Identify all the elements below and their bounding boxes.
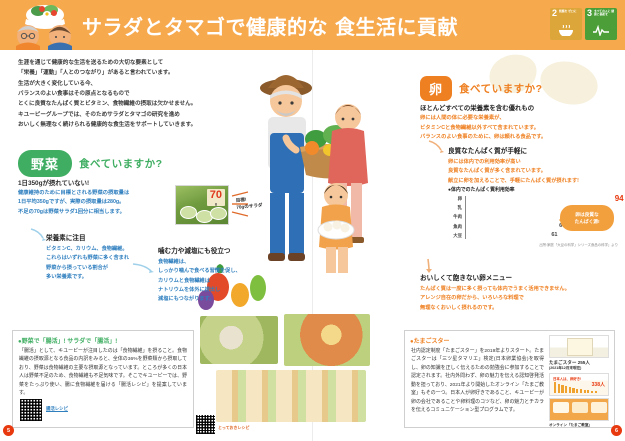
egg-subtext-line: バランスのよい食事のために、卵は頼れる食品です。 <box>420 133 625 143</box>
salad-couple-mascot-icon <box>8 2 82 50</box>
egg-menu-callout: おいしくて飽きない卵メニュー たんぱく質は一度に多く摂っても体内でうまく活用でき… <box>420 272 620 313</box>
vegetable-subtext-line: 健康維持のために目標とされる野菜の摂取量は <box>18 189 178 198</box>
chewing-callout-line: カリウムと食物繊維は <box>158 277 282 286</box>
chewing-callout-line: ナトリウムを体外に排出し <box>158 286 282 295</box>
tamago-star-certificate-photo <box>549 335 609 358</box>
tamago-star-panel-body: 社内認定制度「たまごスター」を2019年よりスタート。たまごスターは「三ツ星タマ… <box>411 348 544 416</box>
sdg-badge-3-number: 3 <box>587 9 592 18</box>
chart-value-label: 94 <box>615 194 624 203</box>
nutrient-callout: 栄養素に注目 ビタミンC、カリウム、食物繊維。 これらはいずれも野菜に多く含まれ… <box>46 232 166 282</box>
sdg-badge-3-caption: すべての人に 健康と福祉を <box>594 10 616 17</box>
chewing-callout-line: しっかり噛んで食べる習慣を促し、 <box>158 267 282 276</box>
egg-subtext-line: 卵には人間の体に必要な栄養素が、 <box>420 114 625 124</box>
vegetable-ask-text: 食べていますか? <box>79 156 163 171</box>
chewing-callout: 噛む力や減塩にも役立つ 食物繊維は、 しっかり噛んで食べる習慣を促し、 カリウム… <box>158 245 282 304</box>
heartbeat-icon <box>585 24 617 38</box>
chewing-callout-title: 噛む力や減塩にも役立つ <box>158 245 282 255</box>
sdg-badge-2: 2 飢餓を ゼロに <box>550 8 582 40</box>
egg-subtext: 卵には人間の体に必要な栄養素が、 ビタミンCと食物繊維以外すべて含まれています。… <box>420 114 625 143</box>
pointer-arrow-icon <box>428 140 446 154</box>
chokatsu-qr-code[interactable] <box>20 399 42 421</box>
egg-menu-callout-line: たんぱく質は一度に多く摂っても体内でうまく活用できません。 <box>420 285 620 294</box>
chokatsu-panel-heading: ●野菜で「腸活」! サラダで「腸活」! <box>18 336 193 345</box>
food-photo-salad <box>200 316 278 364</box>
nutrient-callout-line: ビタミンC、カリウム、食物繊維。 <box>46 245 166 254</box>
protein-callout: 良質なたんぱく質が手軽に 卵には体内での利用効率が高い 良質なたんぱく質が多く含… <box>448 145 625 186</box>
chart-category-label: 卵 <box>448 196 464 202</box>
chart-row: 卵 94 <box>465 196 620 204</box>
protein-source-badge: 卵は良質な たんぱく源! <box>560 205 614 231</box>
chart-category-label: 牛肉 <box>448 214 464 220</box>
nutrient-callout-title: 栄養素に注目 <box>46 232 166 242</box>
tamago-star-count-date: (2021年12月末現在) <box>549 366 609 371</box>
vegetable-lead: 1日350gが摂れていない! <box>18 178 170 187</box>
vegetable-pill-label: 野菜 <box>18 150 72 177</box>
tamago-star-photo-column: たまごスター 255人 (2021年12月末現在) 日本人は、卵好き! 338人… <box>549 335 609 428</box>
egg-menu-callout-line: アレンジ自在の卵だから、いろいろな料理で <box>420 294 620 303</box>
vegetable-subtext: 健康維持のために目標とされる野菜の摂取量は 1日平均350gですが、実際の摂取量… <box>18 189 178 217</box>
chart-source-note: 出所:家庭「大豆の科学」シリーズ食品の科学」より <box>448 242 620 247</box>
egg-ask-text: 食べていますか? <box>459 81 543 96</box>
soup-bowl-icon <box>550 24 582 38</box>
nutrient-callout-line: 多い栄養素です。 <box>46 273 166 282</box>
egg-subtext-line: ビタミンCと食物繊維以外すべて含まれています。 <box>420 124 625 134</box>
chokatsu-panel-body: 「腸活」として、キユーピーが注目したのは「食物繊維」を摂ること。食物繊維の摂取源… <box>19 348 187 399</box>
chart-category-label: 魚肉 <box>448 224 464 230</box>
page-number-left: 5 <box>3 425 14 436</box>
egg-menu-callout-title: おいしくて飽きない卵メニュー <box>420 272 620 282</box>
chokatsu-recipe-link[interactable]: 腸活レシピ <box>46 406 68 412</box>
egg-menu-callout-line: 無理なくおいしく摂れるのです。 <box>420 304 620 313</box>
chart-value-label: 61 <box>551 232 559 238</box>
protein-callout-line: 良質なたんぱく質が多く含まれています。 <box>448 167 625 176</box>
egg-pill-label: 卵 <box>420 76 452 101</box>
protein-callout-body: 卵には体内での利用効率が高い 良質なたんぱく質が多く含まれています。 献立に卵を… <box>448 158 625 186</box>
infographic-page: サラダとタマゴで健康的な食生活に貢献 2 飢餓を ゼロに 3 すべての人に 健康… <box>0 0 625 441</box>
vegetable-section-heading: 野菜 食べていますか? <box>18 150 163 177</box>
egg-popularity-bars <box>554 381 597 393</box>
sdg-badge-group: 2 飢餓を ゼロに 3 すべての人に 健康と福祉を <box>550 8 617 40</box>
egg-lead: ほとんどすべての栄養素を含む優れもの <box>420 103 620 112</box>
egg-menu-callout-body: たんぱく質は一度に多く摂っても体内でうまく活用できません。 アレンジ自在の卵だか… <box>420 285 620 313</box>
protein-callout-line: 卵には体内での利用効率が高い <box>448 158 625 167</box>
page-title-part2: 食生活に貢献 <box>335 17 458 39</box>
egg-popularity-chart-photo: 日本人は、卵好き! 338人 <box>549 373 609 396</box>
online-tamago-class-caption: オンライン「たまご教室」 <box>549 423 609 428</box>
recipe-qr-code[interactable] <box>196 415 215 434</box>
sdg-badge-3: 3 すべての人に 健康と福祉を <box>585 8 617 40</box>
egg-popularity-caption: 日本人は、卵好き! <box>553 376 581 381</box>
egg-section-heading: 卵 食べていますか? <box>420 76 543 101</box>
chewing-callout-line: 減塩にもつながります。 <box>158 295 282 304</box>
sdg-badge-2-number: 2 <box>552 9 557 18</box>
page-number-right: 6 <box>611 425 622 436</box>
chart-category-label: 大豆 <box>448 233 464 239</box>
page-header: サラダとタマゴで健康的な食生活に貢献 2 飢餓を ゼロに 3 すべての人に 健康… <box>0 0 625 50</box>
sdg-badge-2-caption: 飢餓を ゼロに <box>559 10 581 13</box>
chewing-callout-line: 食物繊維は、 <box>158 258 282 267</box>
chart-category-label: 乳 <box>448 205 464 211</box>
page-title-part1: サラダとタマゴで健康的な <box>82 17 328 39</box>
chokatsu-panel: ●野菜で「腸活」! サラダで「腸活」! 「腸活」として、キユーピーが注目したのは… <box>12 330 194 428</box>
pointer-arrow-icon <box>132 262 156 274</box>
vegetable-subtext-line: 1日平均350gですが、実際の摂取量は280g。 <box>18 198 178 207</box>
salad-70g-photo: 70g <box>175 185 229 225</box>
recipe-qr-caption: とっておきレシピ <box>218 425 250 431</box>
chart-row: 大豆 61 <box>465 232 620 240</box>
protein-callout-line: 献立に卵を加えることで、手軽にたんぱく質が摂れます! <box>448 177 625 186</box>
vegetable-subtext-line: 不足の70gは野菜サラダ1回分に相当します。 <box>18 208 178 217</box>
salad-70g-badge: 70g <box>207 189 225 206</box>
online-tamago-class-photo <box>549 398 609 421</box>
food-photo-egg-dish <box>284 314 370 366</box>
tamago-star-panel: ●たまごスター 社内認定制度「たまごスター」を2019年よりスタート。たまごスタ… <box>404 330 615 428</box>
protein-callout-title: 良質なたんぱく質が手軽に <box>448 145 625 155</box>
food-photo-canape <box>216 370 366 422</box>
chewing-callout-body: 食物繊維は、 しっかり噛んで食べる習慣を促し、 カリウムと食物繊維は ナトリウム… <box>158 258 282 304</box>
page-title: サラダとタマゴで健康的な食生活に貢献 <box>82 11 458 40</box>
chart-title: ●体内でのたんぱく質利用効率 <box>448 186 620 193</box>
